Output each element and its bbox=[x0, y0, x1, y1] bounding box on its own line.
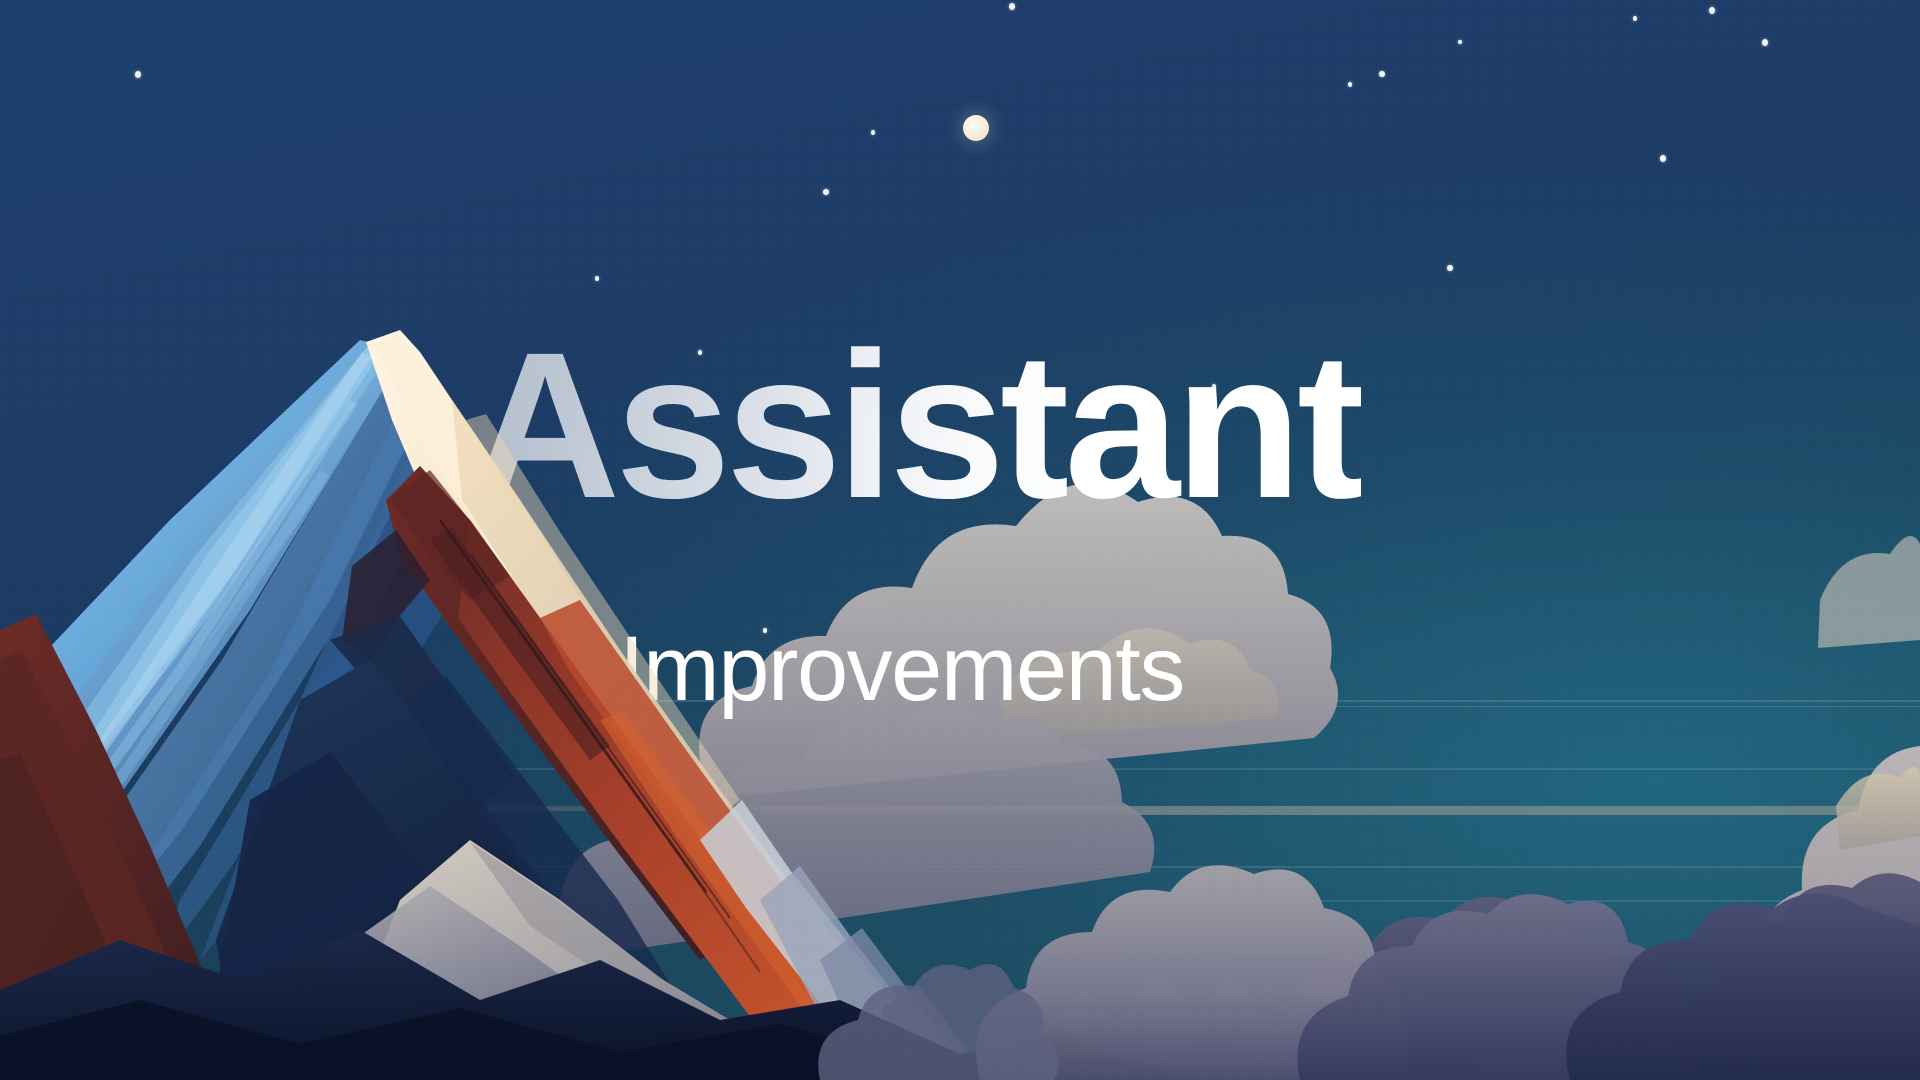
front-cloud-layer bbox=[0, 0, 1920, 1080]
hero-illustration: Assistant Improvements bbox=[0, 0, 1920, 1080]
